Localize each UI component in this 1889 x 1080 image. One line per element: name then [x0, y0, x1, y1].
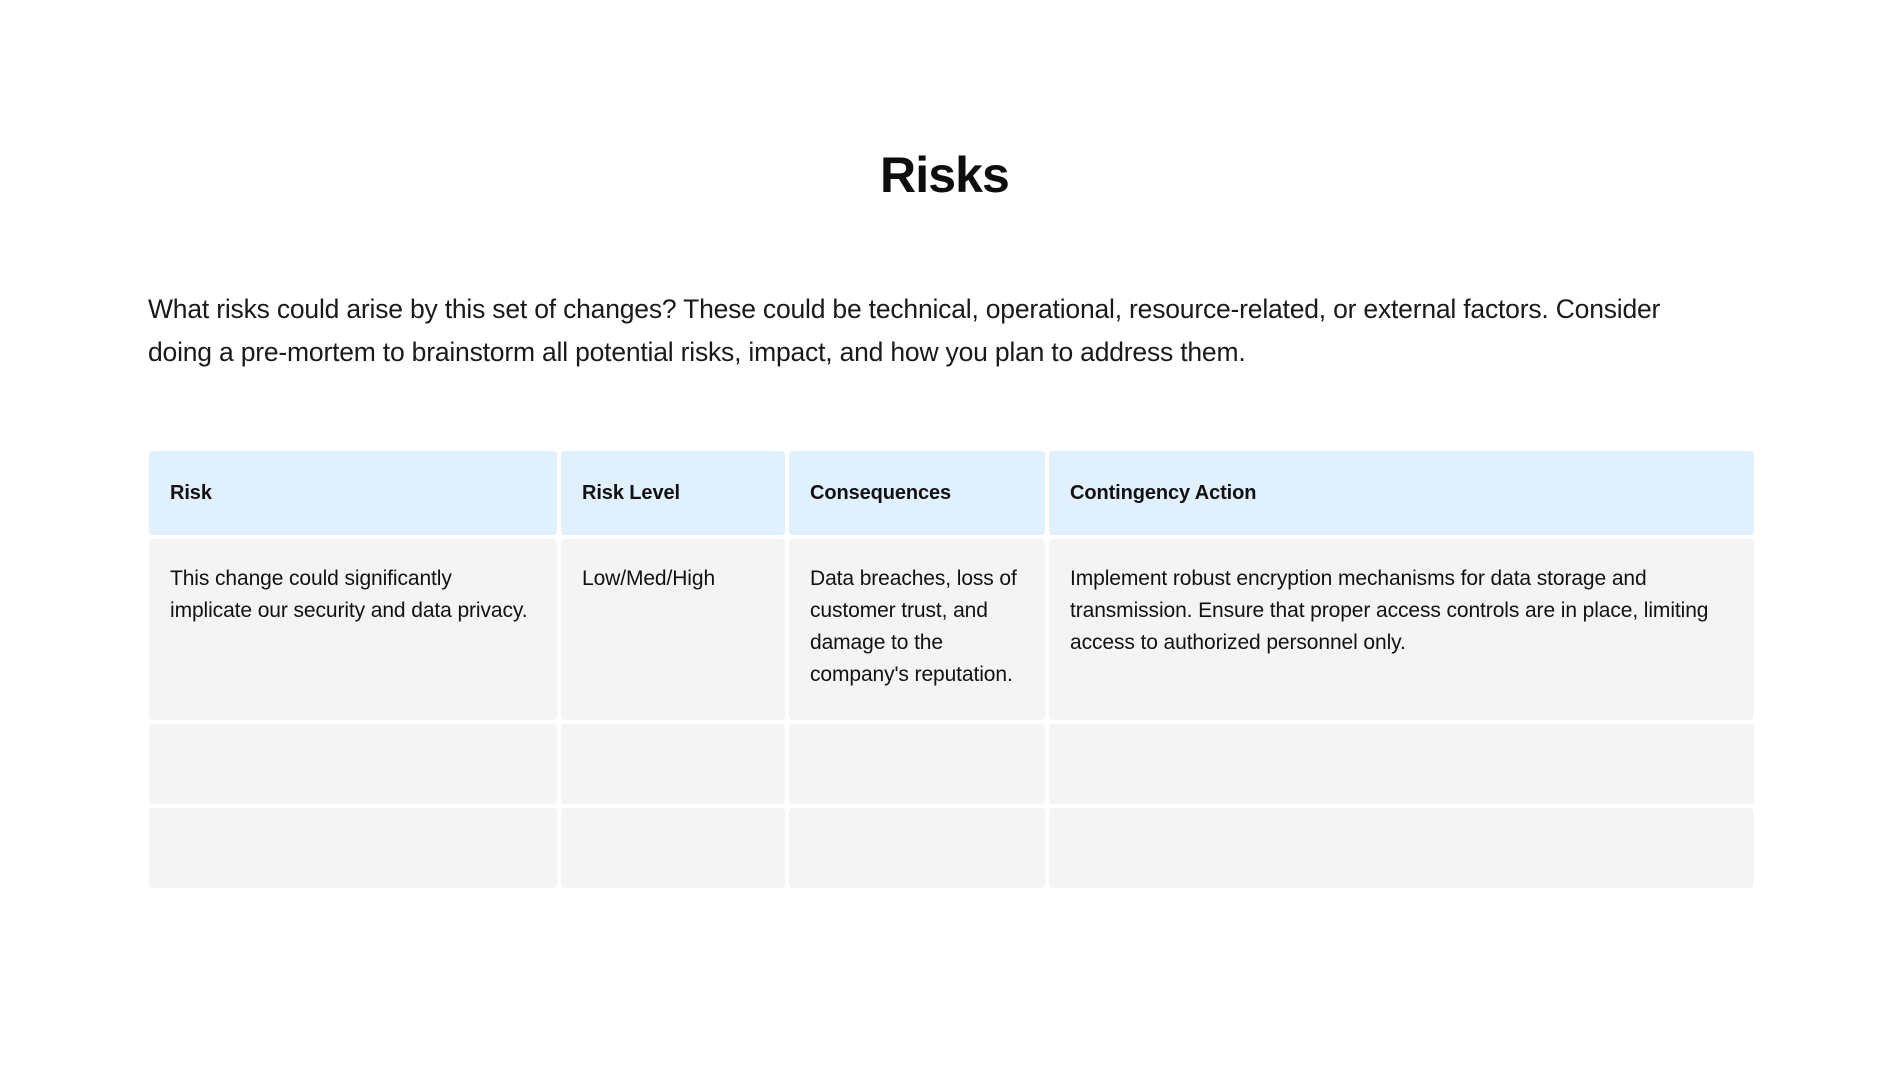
- cell-consequences-text: Data breaches, loss of customer trust, a…: [810, 563, 1024, 691]
- column-header-consequences-label: Consequences: [810, 480, 951, 507]
- cell-consequences[interactable]: Data breaches, loss of customer trust, a…: [789, 539, 1045, 720]
- document-page: Risks What risks could arise by this set…: [0, 0, 1889, 1080]
- cell-risk-level[interactable]: [561, 724, 785, 804]
- cell-risk[interactable]: [149, 724, 557, 804]
- risks-table: Risk Risk Level Consequences Contingency…: [149, 451, 1750, 888]
- table-header-row: Risk Risk Level Consequences Contingency…: [149, 451, 1750, 535]
- cell-contingency-action[interactable]: [1049, 724, 1754, 804]
- cell-risk-level[interactable]: [561, 808, 785, 888]
- table-row: This change could significantly implicat…: [149, 539, 1750, 720]
- table-row: [149, 724, 1750, 804]
- column-header-contingency-action[interactable]: Contingency Action: [1049, 451, 1754, 535]
- cell-contingency-action[interactable]: Implement robust encryption mechanisms f…: [1049, 539, 1754, 720]
- column-header-contingency-action-label: Contingency Action: [1070, 480, 1256, 507]
- cell-risk-level[interactable]: Low/Med/High: [561, 539, 785, 720]
- cell-consequences[interactable]: [789, 724, 1045, 804]
- cell-contingency-action[interactable]: [1049, 808, 1754, 888]
- intro-paragraph: What risks could arise by this set of ch…: [148, 288, 1708, 374]
- cell-risk-text: This change could significantly implicat…: [170, 563, 536, 627]
- column-header-risk-level[interactable]: Risk Level: [561, 451, 785, 535]
- cell-consequences[interactable]: [789, 808, 1045, 888]
- column-header-risk-level-label: Risk Level: [582, 480, 680, 507]
- page-title: Risks: [0, 148, 1889, 203]
- cell-risk[interactable]: [149, 808, 557, 888]
- column-header-risk[interactable]: Risk: [149, 451, 557, 535]
- table-row: [149, 808, 1750, 888]
- column-header-consequences[interactable]: Consequences: [789, 451, 1045, 535]
- column-header-risk-label: Risk: [170, 480, 212, 507]
- cell-contingency-action-text: Implement robust encryption mechanisms f…: [1070, 563, 1733, 659]
- cell-risk[interactable]: This change could significantly implicat…: [149, 539, 557, 720]
- cell-risk-level-text: Low/Med/High: [582, 563, 764, 595]
